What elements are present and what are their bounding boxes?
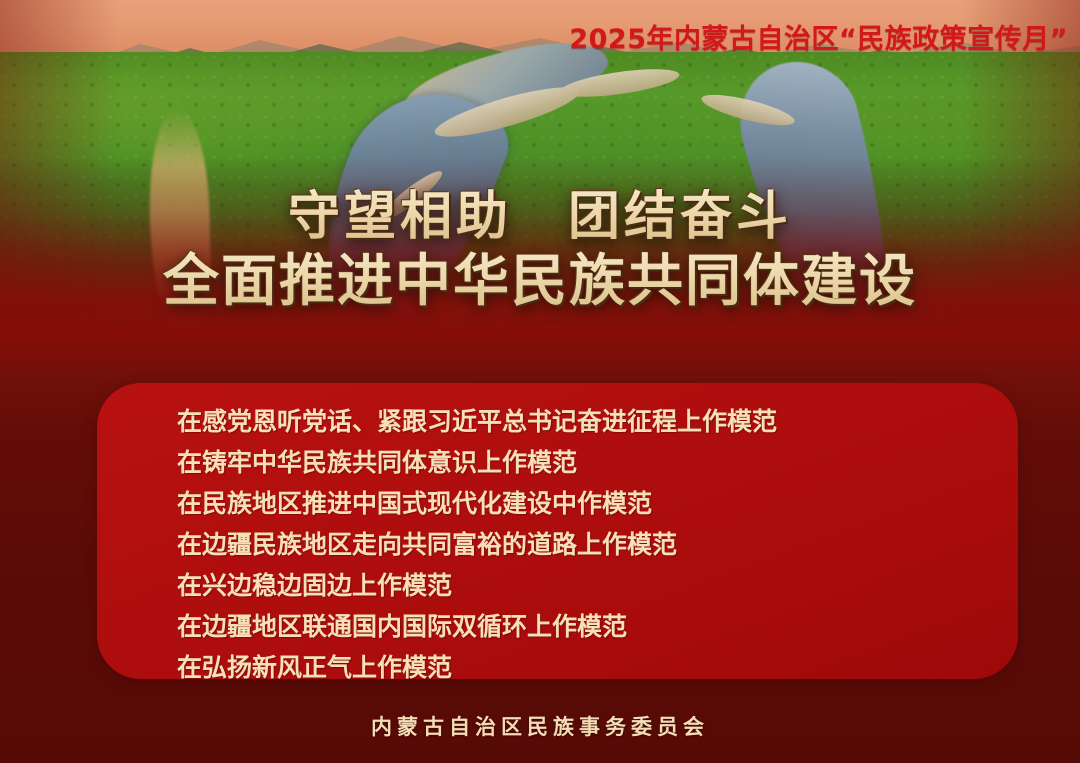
campaign-header-title: 2025年内蒙古自治区“民族政策宣传月” <box>569 17 1068 56</box>
list-item: 在铸牢中华民族共同体意识上作模范 <box>177 442 777 483</box>
list-item: 在兴边稳边固边上作模范 <box>177 565 777 606</box>
slogan-list: 在感党恩听党话、紧跟习近平总书记奋进征程上作模范 在铸牢中华民族共同体意识上作模… <box>177 401 777 688</box>
list-item: 在弘扬新风正气上作模范 <box>177 647 777 688</box>
poster-root: 2025年内蒙古自治区“民族政策宣传月” 守望相助 团结奋斗 全面推进中华民族共… <box>0 0 1080 763</box>
footer: 内蒙古自治区民族事务委员会 <box>0 711 1080 741</box>
slogan-card: 在感党恩听党话、紧跟习近平总书记奋进征程上作模范 在铸牢中华民族共同体意识上作模… <box>97 383 1018 679</box>
list-item: 在民族地区推进中国式现代化建设中作模范 <box>177 483 777 524</box>
issuing-organization: 内蒙古自治区民族事务委员会 <box>371 711 709 741</box>
list-item: 在边疆民族地区走向共同富裕的道路上作模范 <box>177 524 777 565</box>
list-item: 在感党恩听党话、紧跟习近平总书记奋进征程上作模范 <box>177 401 777 442</box>
list-item: 在边疆地区联通国内国际双循环上作模范 <box>177 606 777 647</box>
